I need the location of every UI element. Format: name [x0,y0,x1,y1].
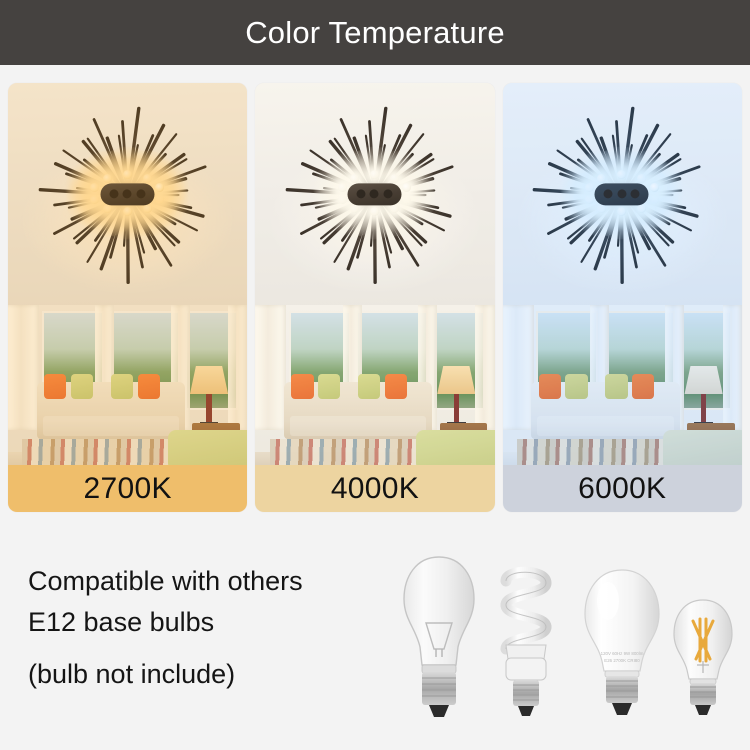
pillow [44,374,66,399]
incandescent-bulb-icon [400,553,478,721]
pillow [385,374,407,399]
compatibility-section: Compatible with others E12 base bulbs (b… [0,540,750,750]
led-filament-bulb-icon [670,597,736,719]
hub-socket [370,190,379,199]
color-temperature-comparison: 2700K [8,83,742,512]
hub-socket [136,190,145,199]
room-photo-2700k [8,83,247,465]
pillow [539,374,561,399]
room-photo-6000k [503,83,742,465]
sputnik-ceiling-light [374,193,375,194]
living-room [503,305,742,465]
curtain [475,305,494,430]
table-lamp [437,366,475,430]
living-room [255,305,494,465]
armchair [168,430,247,465]
curtain [8,305,39,430]
temperature-card-4000k[interactable]: 4000K [255,83,494,512]
compatibility-text: Compatible with others E12 base bulbs (b… [28,568,388,688]
light-bulb [650,183,659,192]
temperature-label-band-6000k: 6000K [503,465,742,512]
hub-socket [356,190,365,199]
pillow [605,374,627,399]
fixture-hub [595,183,649,205]
compatibility-line-1: Compatible with others [28,568,388,595]
sofa-seat [290,416,427,436]
sputnik-ceiling-light [127,193,128,194]
sofa-seat [43,416,180,436]
hub-socket [631,190,640,199]
lamp-shade [684,366,722,395]
sofa [531,382,679,440]
table-lamp [684,366,722,430]
temperature-label-band-2700k: 2700K [8,465,247,512]
pillow [71,374,93,399]
hub-socket [383,190,392,199]
compatibility-line-2: E12 base bulbs [28,609,388,636]
sofa-seat [537,416,674,436]
fixture-hub [100,183,154,205]
page-header: Color Temperature [0,0,750,65]
curtain [255,305,286,430]
compatible-bulb-types: 120V 60Hz 9W 800lm E26 2700K CRI80 [398,545,738,745]
pillow [318,374,340,399]
temperature-label-band-4000k: 4000K [255,465,494,512]
armchair [416,430,495,465]
pillow [565,374,587,399]
compatibility-line-3: (bulb not include) [28,661,388,688]
sofa [284,382,432,440]
lamp-stem [454,394,459,424]
sputnik-ceiling-light [622,193,623,194]
page-title: Color Temperature [245,15,505,51]
temperature-card-6000k[interactable]: 6000K [503,83,742,512]
light-bulb [402,183,411,192]
lamp-shade [190,366,228,395]
living-room [8,305,247,465]
product-infographic: Color Temperature [0,0,750,750]
svg-text:E26 2700K CRI80: E26 2700K CRI80 [604,658,640,663]
temperature-label: 2700K [84,472,172,506]
cfl-spiral-bulb-icon [490,559,562,721]
temperature-label: 4000K [331,472,419,506]
armchair [663,430,742,465]
svg-text:120V 60Hz 9W 800lm: 120V 60Hz 9W 800lm [601,651,644,656]
fixture-hub [347,183,401,205]
lamp-stem [701,394,706,424]
pillow [291,374,313,399]
temperature-card-2700k[interactable]: 2700K [8,83,247,512]
lamp-stem [206,394,211,424]
light-bulb [155,183,164,192]
pillow [138,374,160,399]
temperature-label: 6000K [578,472,666,506]
hub-socket [604,190,613,199]
lamp-shade [437,366,475,395]
hub-socket [109,190,118,199]
led-frosted-bulb-icon: 120V 60Hz 9W 800lm E26 2700K CRI80 [580,567,664,719]
room-photo-4000k [255,83,494,465]
curtain [503,305,534,430]
curtain [723,305,742,430]
hub-socket [617,190,626,199]
pillow [632,374,654,399]
hub-socket [123,190,132,199]
table-lamp [190,366,228,430]
sofa [37,382,185,440]
pillow [111,374,133,399]
curtain [228,305,247,430]
pillow [358,374,380,399]
